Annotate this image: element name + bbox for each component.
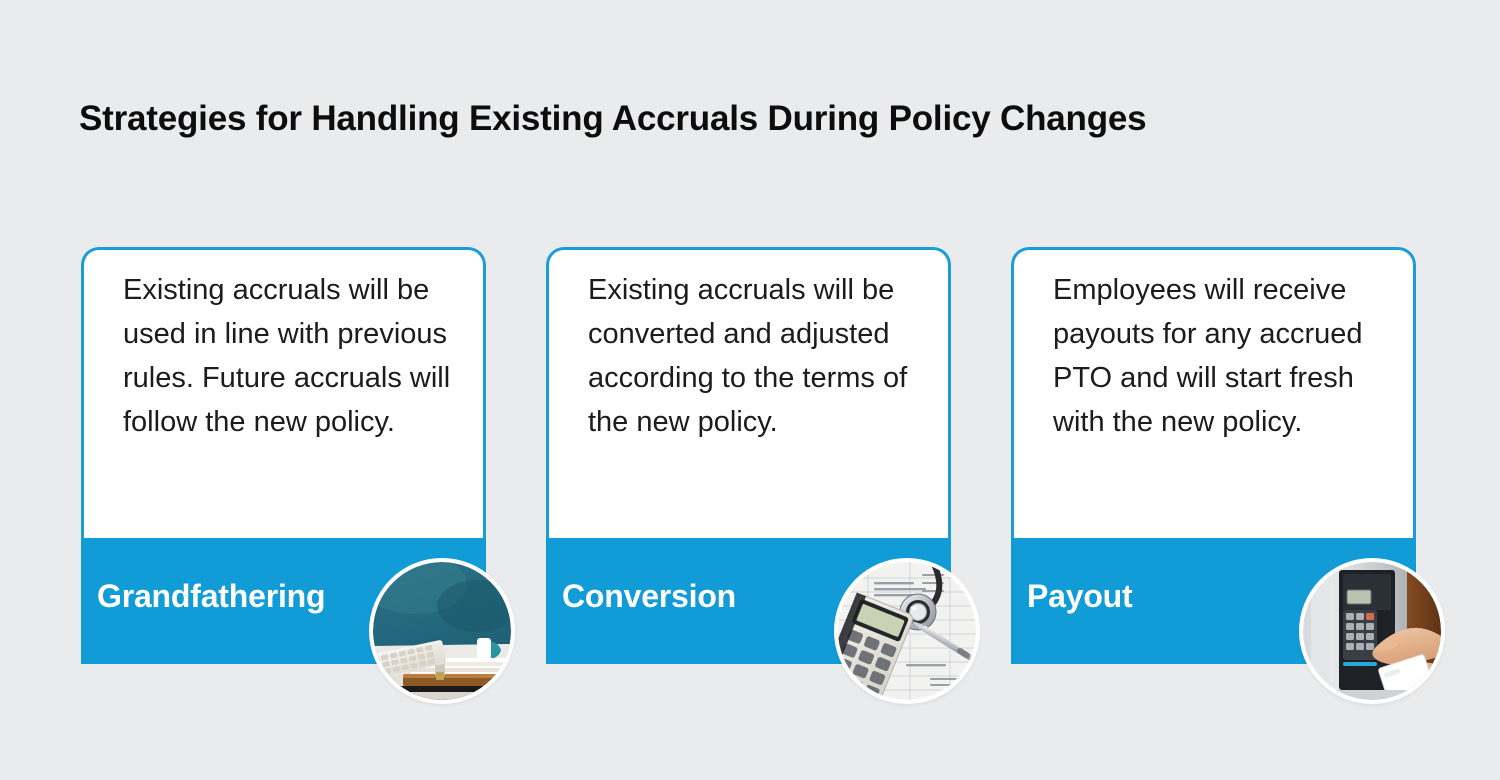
card-body: Existing accruals will be used in line w… — [81, 247, 486, 540]
card-payout[interactable]: Employees will receive payouts for any a… — [1011, 247, 1416, 664]
card-body: Existing accruals will be converted and … — [546, 247, 951, 540]
card-description: Existing accruals will be used in line w… — [123, 268, 468, 444]
card-conversion[interactable]: Existing accruals will be converted and … — [546, 247, 951, 664]
card-label: Grandfathering — [97, 578, 325, 615]
card-grandfathering[interactable]: Existing accruals will be used in line w… — [81, 247, 486, 664]
keyboard-notebook-desk-photo — [373, 562, 511, 700]
page-title: Strategies for Handling Existing Accrual… — [79, 99, 1419, 139]
infographic-page: Strategies for Handling Existing Accrual… — [0, 0, 1500, 780]
card-body: Employees will receive payouts for any a… — [1011, 247, 1416, 540]
card-description: Existing accruals will be converted and … — [588, 268, 933, 444]
card-label: Conversion — [562, 578, 736, 615]
card-label: Payout — [1027, 578, 1133, 615]
calculator-stethoscope-forms-photo — [838, 562, 976, 700]
card-description: Employees will receive payouts for any a… — [1053, 268, 1398, 444]
atm-keypad-card-photo — [1303, 562, 1441, 700]
